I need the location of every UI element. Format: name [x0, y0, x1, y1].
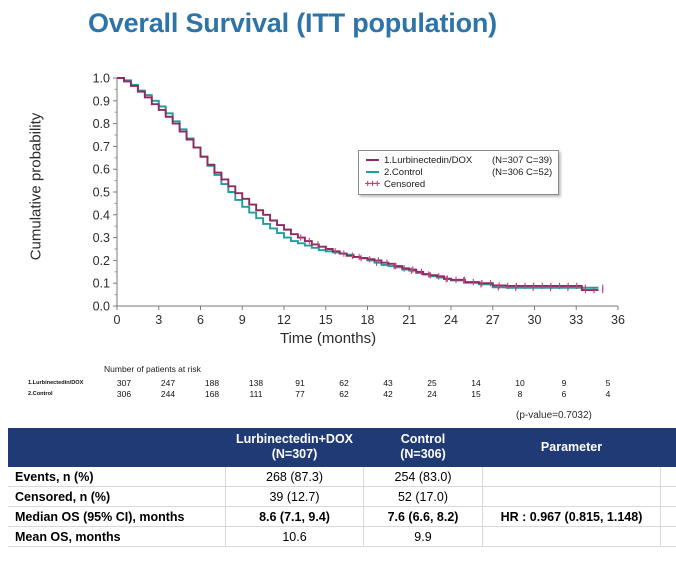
risk-value: 25: [410, 378, 454, 389]
km-survival-chart: 0.00.10.20.30.40.50.60.70.80.91.00369121…: [0, 62, 676, 362]
risk-value: 188: [190, 378, 234, 389]
risk-value: 10: [498, 378, 542, 389]
cell-pvalue: [661, 487, 676, 507]
risk-row-label: 1.Lurbinectedin/DOX: [28, 378, 102, 389]
risk-value: 9: [542, 378, 586, 389]
svg-text:0.4: 0.4: [93, 208, 110, 222]
risk-value: 15: [454, 389, 498, 400]
risk-value: 42: [366, 389, 410, 400]
summary-results-table: Lurbinectedin+DOX (N=307) Control (N=306…: [8, 428, 676, 547]
risk-value: 138: [234, 378, 278, 389]
header-control-l2: (N=306): [370, 447, 476, 462]
svg-text:0.6: 0.6: [93, 163, 110, 177]
svg-text:0.1: 0.1: [93, 277, 110, 291]
header-control-l1: Control: [370, 432, 476, 447]
summary-table-head: Lurbinectedin+DOX (N=307) Control (N=306…: [9, 429, 676, 467]
km-plot-svg: 0.00.10.20.30.40.50.60.70.80.91.00369121…: [0, 62, 676, 362]
svg-text:36: 36: [611, 313, 625, 327]
risk-value: 168: [190, 389, 234, 400]
svg-text:0.2: 0.2: [93, 254, 110, 268]
risk-value: 14: [454, 378, 498, 389]
cell-lurbinectedin: 268 (87.3): [226, 467, 364, 487]
cell-lurbinectedin: 10.6: [226, 527, 364, 547]
svg-text:24: 24: [444, 313, 458, 327]
risk-value: 6: [542, 389, 586, 400]
legend-item-lurbinectedin: 1.Lurbinectedin/DOX(N=307 C=39): [364, 155, 552, 166]
chart-legend: 1.Lurbinectedin/DOX(N=307 C=39) 2.Contro…: [358, 150, 559, 195]
risk-value: 307: [102, 378, 146, 389]
risk-value: 111: [234, 389, 278, 400]
risk-table-title: Number of patients at risk: [104, 364, 201, 374]
summary-table-header-row: Lurbinectedin+DOX (N=307) Control (N=306…: [9, 429, 676, 467]
legend-item-censored: +++ Censored: [364, 179, 552, 190]
svg-text:0.9: 0.9: [93, 94, 110, 108]
header-parameter: Parameter: [483, 429, 661, 467]
p-value-annotation: (p-value=0.7032): [516, 410, 592, 421]
header-pvalue: p-value: [661, 429, 676, 467]
svg-text:9: 9: [239, 313, 246, 327]
cell-lurbinectedin: 39 (12.7): [226, 487, 364, 507]
header-lurbinectedin-l2: (N=307): [232, 447, 357, 462]
risk-value: 24: [410, 389, 454, 400]
table-row: Censored, n (%)39 (12.7)52 (17.0): [9, 487, 676, 507]
svg-text:0.8: 0.8: [93, 117, 110, 131]
svg-text:30: 30: [528, 313, 542, 327]
censored-tick-icon: +++: [364, 180, 380, 190]
row-label: Censored, n (%): [9, 487, 226, 507]
legend-label-1: 1.Lurbinectedin/DOX(N=307 C=39): [384, 155, 552, 166]
row-label: Mean OS, months: [9, 527, 226, 547]
svg-text:33: 33: [569, 313, 583, 327]
svg-text:21: 21: [402, 313, 416, 327]
svg-text:6: 6: [197, 313, 204, 327]
risk-value: 62: [322, 389, 366, 400]
svg-text:0.7: 0.7: [93, 140, 110, 154]
risk-value: 5: [586, 378, 630, 389]
cell-parameter: [483, 487, 661, 507]
svg-text:1.0: 1.0: [93, 72, 110, 86]
svg-text:0.5: 0.5: [93, 186, 110, 200]
svg-text:18: 18: [361, 313, 375, 327]
risk-value: 62: [322, 378, 366, 389]
svg-text:15: 15: [319, 313, 333, 327]
risk-value: 77: [278, 389, 322, 400]
risk-row-label: 2.Control: [28, 389, 102, 400]
cell-pvalue: 0.7032: [661, 507, 676, 527]
x-axis-label: Time (months): [228, 330, 428, 347]
slide-root: Overall Survival (ITT population) 0.00.1…: [0, 0, 676, 564]
header-lurbinectedin: Lurbinectedin+DOX (N=307): [226, 429, 364, 467]
risk-table-row: 2.Control3062441681117762422415864: [28, 389, 630, 400]
risk-value: 247: [146, 378, 190, 389]
cell-parameter: [483, 467, 661, 487]
table-row: Events, n (%)268 (87.3)254 (83.0): [9, 467, 676, 487]
risk-table-grid: 1.Lurbinectedin/DOX307247188138916243251…: [28, 378, 630, 400]
risk-value: 306: [102, 389, 146, 400]
cell-pvalue: [661, 467, 676, 487]
summary-table-body: Events, n (%)268 (87.3)254 (83.0)Censore…: [9, 467, 676, 547]
svg-text:12: 12: [277, 313, 291, 327]
row-label: Median OS (95% CI), months: [9, 507, 226, 527]
legend-item-control: 2.Control(N=306 C=52): [364, 167, 552, 178]
risk-value: 4: [586, 389, 630, 400]
cell-pvalue: [661, 527, 676, 547]
svg-text:0.3: 0.3: [93, 231, 110, 245]
cell-control: 9.9: [364, 527, 483, 547]
cell-lurbinectedin: 8.6 (7.1, 9.4): [226, 507, 364, 527]
cell-control: 254 (83.0): [364, 467, 483, 487]
legend-label-2: 2.Control(N=306 C=52): [384, 167, 552, 178]
header-control: Control (N=306): [364, 429, 483, 467]
svg-text:27: 27: [486, 313, 500, 327]
cell-control: 7.6 (6.6, 8.2): [364, 507, 483, 527]
table-row: Mean OS, months10.69.9: [9, 527, 676, 547]
svg-text:0.0: 0.0: [93, 300, 110, 314]
cell-parameter: HR : 0.967 (0.815, 1.148): [483, 507, 661, 527]
row-label: Events, n (%): [9, 467, 226, 487]
cell-parameter: [483, 527, 661, 547]
header-blank: [9, 429, 226, 467]
table-row: Median OS (95% CI), months8.6 (7.1, 9.4)…: [9, 507, 676, 527]
svg-text:0: 0: [114, 313, 121, 327]
svg-text:3: 3: [155, 313, 162, 327]
risk-value: 43: [366, 378, 410, 389]
cell-control: 52 (17.0): [364, 487, 483, 507]
risk-value: 244: [146, 389, 190, 400]
risk-value: 8: [498, 389, 542, 400]
risk-table-row: 1.Lurbinectedin/DOX307247188138916243251…: [28, 378, 630, 389]
legend-label-3: Censored: [384, 179, 425, 190]
y-axis-label: Cumulative probability: [28, 87, 45, 287]
risk-value: 91: [278, 378, 322, 389]
header-lurbinectedin-l1: Lurbinectedin+DOX: [232, 432, 357, 447]
page-title: Overall Survival (ITT population): [88, 8, 497, 39]
